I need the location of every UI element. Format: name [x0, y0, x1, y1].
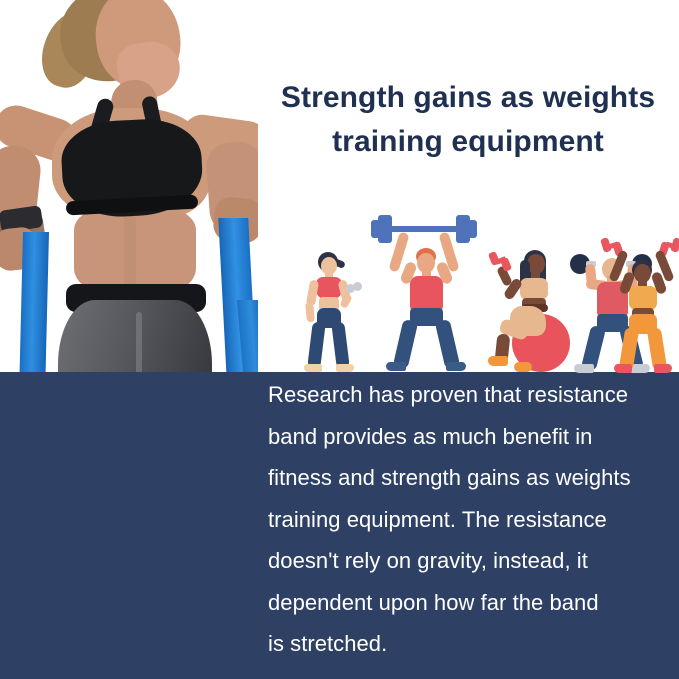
figure-barbell-press-man: [370, 222, 478, 374]
description-line-7: is stretched.: [268, 623, 674, 665]
description-line-5: doesn't rely on gravity, instead, it: [268, 540, 674, 582]
abdomen-shading: [124, 214, 136, 288]
page-title-line-2: training equipment: [262, 120, 674, 164]
description-paragraph: Research has proven that resistance band…: [268, 374, 674, 665]
barbell-plate-right-outer: [468, 220, 477, 238]
description-line-4: training equipment. The resistance: [268, 499, 674, 541]
left-shoe: [304, 364, 322, 372]
exercise-figures-strip: [288, 222, 676, 374]
right-leg: [331, 321, 350, 368]
left-shoe: [386, 362, 406, 371]
description-line-3: fitness and strength gains as weights: [268, 457, 674, 499]
crop-top: [629, 286, 657, 310]
description-line-2: band provides as much benefit in: [268, 416, 674, 458]
description-line-6: dependent upon how far the band: [268, 582, 674, 624]
page-title: Strength gains as weights training equip…: [262, 76, 674, 164]
figure-stability-ball-woman: [484, 244, 570, 374]
product-infographic: Strength gains as weights training equip…: [0, 0, 679, 679]
right-shoe: [514, 362, 532, 372]
left-leg: [307, 321, 326, 368]
barbell-plate-left-outer: [371, 220, 380, 238]
crop-top: [520, 278, 548, 300]
figure-overhead-raise-woman: [604, 238, 679, 374]
figure-dumbbell-curl-woman: [292, 252, 362, 374]
left-shoe: [488, 356, 508, 366]
page-title-line-1: Strength gains as weights: [262, 76, 674, 120]
barbell-plate-left: [378, 215, 392, 243]
left-shoe: [574, 364, 594, 373]
right-shoe: [654, 364, 672, 373]
dumbbell-bar: [350, 286, 358, 290]
right-shoe: [336, 364, 354, 372]
barbell-bar: [388, 226, 460, 232]
crop-top: [316, 277, 342, 299]
tank-top: [410, 276, 443, 312]
copy-panel-left-extension: [0, 372, 258, 679]
description-line-1: Research has proven that resistance: [268, 374, 674, 416]
left-shoe: [614, 364, 632, 373]
right-shoe: [446, 362, 466, 371]
